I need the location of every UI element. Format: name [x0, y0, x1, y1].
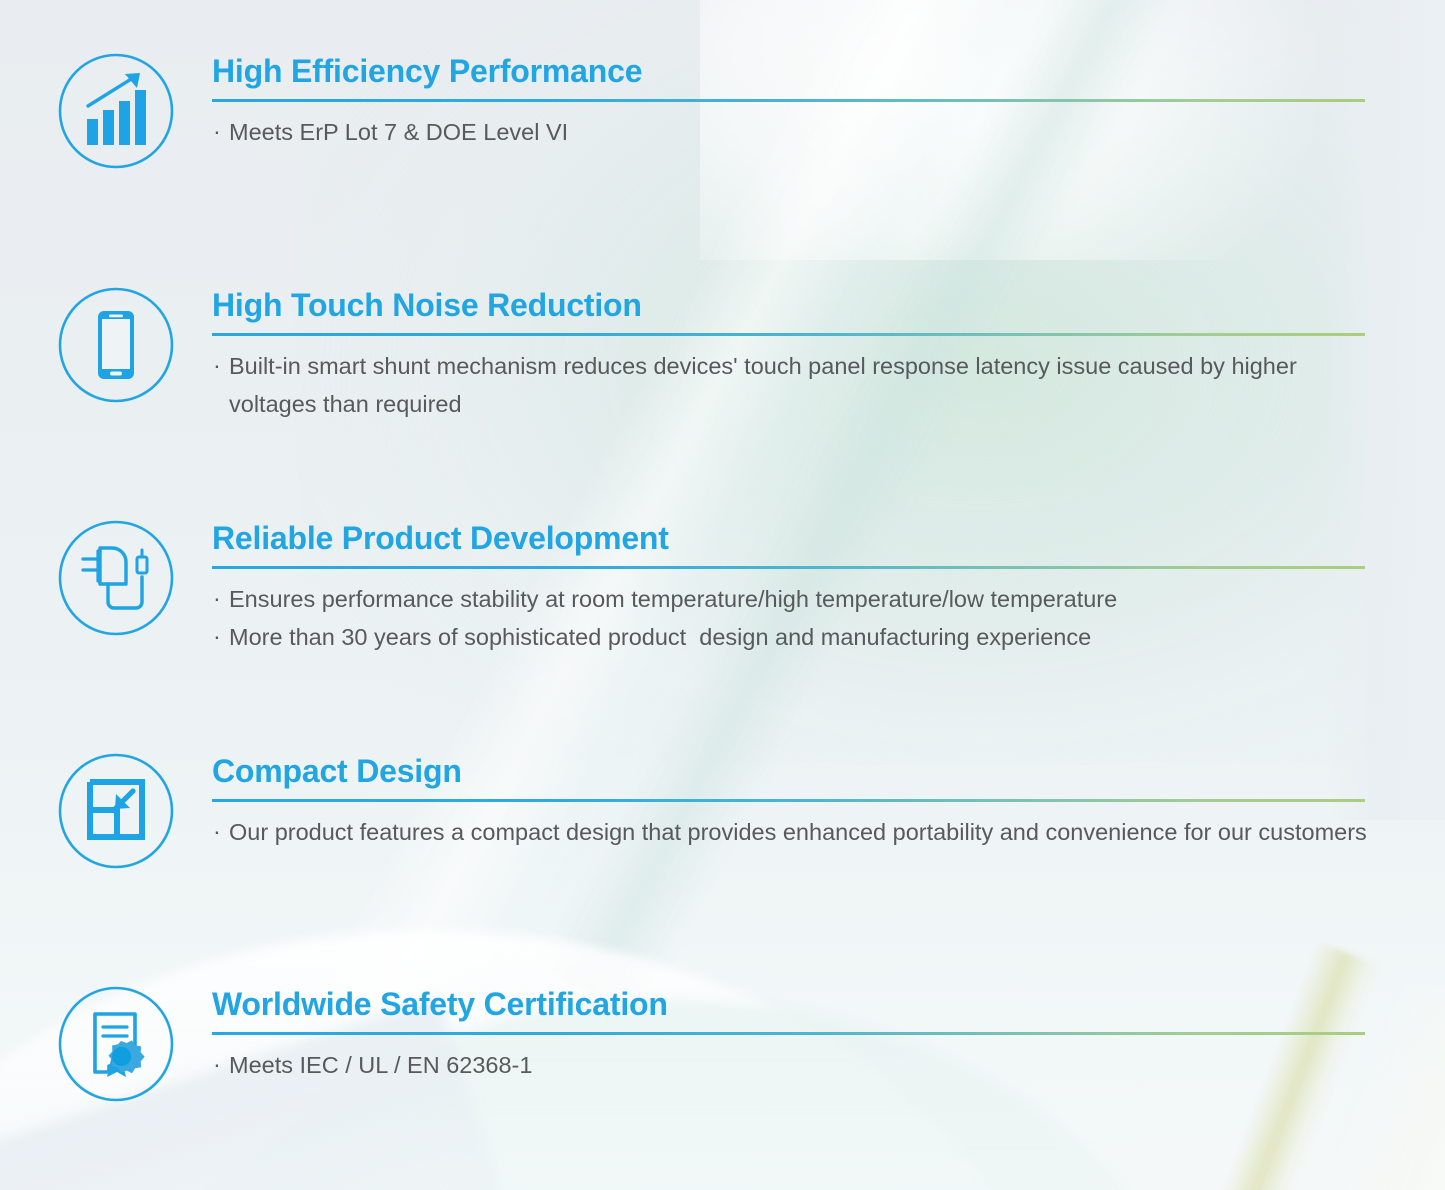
feature-divider	[212, 99, 1365, 102]
feature-bullet-list: Built-in smart shunt mechanism reduces d…	[212, 347, 1367, 423]
feature-text-block: Reliable Product Development Ensures per…	[212, 519, 1367, 656]
feature-title: High Touch Noise Reduction	[212, 286, 1367, 324]
feature-bullet: Meets ErP Lot 7 & DOE Level VI	[212, 113, 1367, 151]
feature-bullet-list: Our product features a compact design th…	[212, 813, 1367, 851]
feature-bullet: More than 30 years of sophisticated prod…	[212, 618, 1367, 656]
feature-list: High Efficiency Performance Meets ErP Lo…	[0, 0, 1445, 1190]
feature-divider	[212, 799, 1365, 802]
feature-text-block: Compact Design Our product features a co…	[212, 752, 1367, 851]
feature-bullet-list: Meets IEC / UL / EN 62368-1	[212, 1046, 1367, 1084]
compact-resize-icon	[57, 752, 175, 870]
feature-text-block: High Touch Noise Reduction Built-in smar…	[212, 286, 1367, 423]
feature-text-block: Worldwide Safety Certification Meets IEC…	[212, 985, 1367, 1084]
bar-chart-growth-icon	[57, 52, 175, 170]
smartphone-icon	[57, 286, 175, 404]
feature-text-block: High Efficiency Performance Meets ErP Lo…	[212, 52, 1367, 151]
feature-highlights-page: High Efficiency Performance Meets ErP Lo…	[0, 0, 1445, 1190]
feature-title: Compact Design	[212, 752, 1367, 790]
feature-bullet-list: Ensures performance stability at room te…	[212, 580, 1367, 656]
feature-title: Worldwide Safety Certification	[212, 985, 1367, 1023]
feature-divider	[212, 566, 1365, 569]
feature-title: Reliable Product Development	[212, 519, 1367, 557]
feature-divider	[212, 1032, 1365, 1035]
feature-bullet-list: Meets ErP Lot 7 & DOE Level VI	[212, 113, 1367, 151]
feature-bullet: Meets IEC / UL / EN 62368-1	[212, 1046, 1367, 1084]
feature-bullet: Built-in smart shunt mechanism reduces d…	[212, 347, 1367, 423]
power-adapter-icon	[57, 519, 175, 637]
feature-title: High Efficiency Performance	[212, 52, 1367, 90]
feature-divider	[212, 333, 1365, 336]
feature-bullet: Our product features a compact design th…	[212, 813, 1367, 851]
feature-bullet: Ensures performance stability at room te…	[212, 580, 1367, 618]
certificate-award-icon	[57, 985, 175, 1103]
